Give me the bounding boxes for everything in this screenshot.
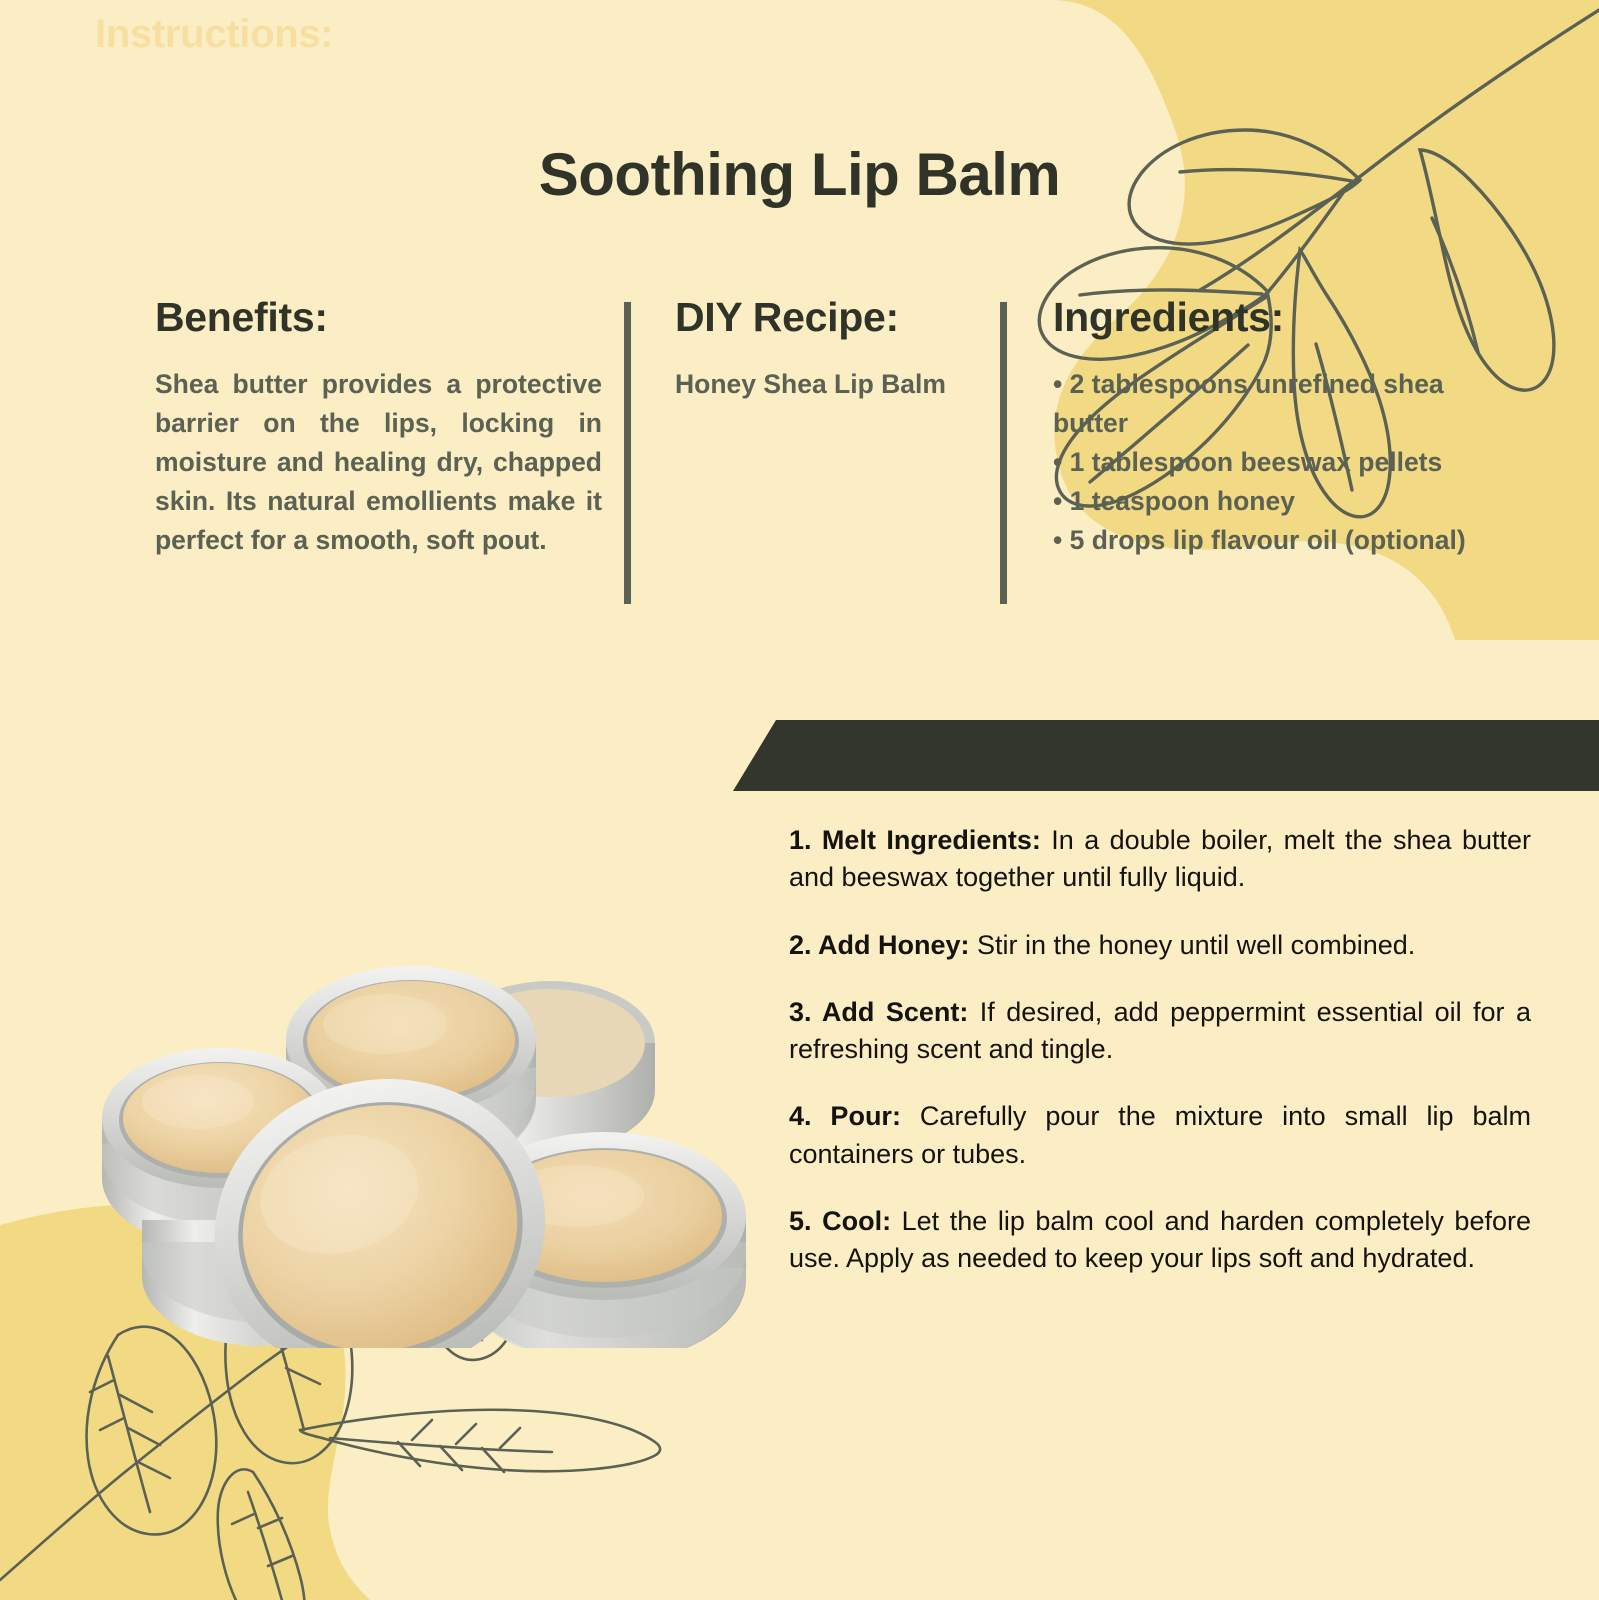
instruction-step: 5. Cool: Let the lip balm cool and harde… <box>789 1203 1531 1278</box>
instructions-banner-label: Instructions: <box>95 12 333 57</box>
benefits-column: Benefits: Shea butter provides a protect… <box>155 296 602 560</box>
step-lead: 2. Add Honey: <box>789 930 970 960</box>
step-text: Carefully pour the mixture into small li… <box>789 1101 1531 1168</box>
background-blobs <box>0 0 1599 1600</box>
recipe-column: DIY Recipe: Honey Shea Lip Balm <box>675 296 975 404</box>
instruction-step: 2. Add Honey: Stir in the honey until we… <box>789 927 1531 964</box>
recipe-heading: DIY Recipe: <box>675 296 975 339</box>
step-text: Let the lip balm cool and harden complet… <box>789 1206 1531 1273</box>
column-divider-1 <box>624 302 631 604</box>
step-lead: 4. Pour: <box>789 1101 901 1131</box>
instructions-banner <box>733 720 1599 791</box>
instruction-step: 1. Melt Ingredients: In a double boiler,… <box>789 822 1531 897</box>
ingredient-item: • 1 tablespoon beeswax pellets <box>1053 443 1493 482</box>
instructions-list: 1. Melt Ingredients: In a double boiler,… <box>789 822 1531 1277</box>
column-divider-2 <box>1000 302 1007 604</box>
benefits-heading: Benefits: <box>155 296 602 339</box>
ingredients-list: • 2 tablespoons unrefined shea butter • … <box>1053 365 1493 560</box>
ingredient-item: • 1 teaspoon honey <box>1053 482 1493 521</box>
ingredients-heading: Ingredients: <box>1053 296 1493 339</box>
leafy-branch-line-art-icon <box>0 0 1599 1600</box>
step-lead: 3. Add Scent: <box>789 997 968 1027</box>
ingredient-item: • 5 drops lip flavour oil (optional) <box>1053 521 1493 560</box>
ingredient-item: • 2 tablespoons unrefined shea butter <box>1053 365 1493 443</box>
benefits-body: Shea butter provides a protective barrie… <box>155 365 602 560</box>
page-title: Soothing Lip Balm <box>0 143 1599 206</box>
step-text: Stir in the honey until well combined. <box>970 930 1416 960</box>
olive-branch-line-art-icon <box>0 0 1599 1600</box>
step-lead: 1. Melt Ingredients: <box>789 825 1041 855</box>
ingredients-column: Ingredients: • 2 tablespoons unrefined s… <box>1053 296 1493 560</box>
infographic-poster: Soothing Lip Balm Benefits: Shea butter … <box>0 0 1599 1600</box>
instruction-step: 4. Pour: Carefully pour the mixture into… <box>789 1098 1531 1173</box>
lip-balm-tins-photo <box>80 828 760 1348</box>
instruction-step: 3. Add Scent: If desired, add peppermint… <box>789 994 1531 1069</box>
step-lead: 5. Cool: <box>789 1206 891 1236</box>
recipe-body: Honey Shea Lip Balm <box>675 365 975 404</box>
